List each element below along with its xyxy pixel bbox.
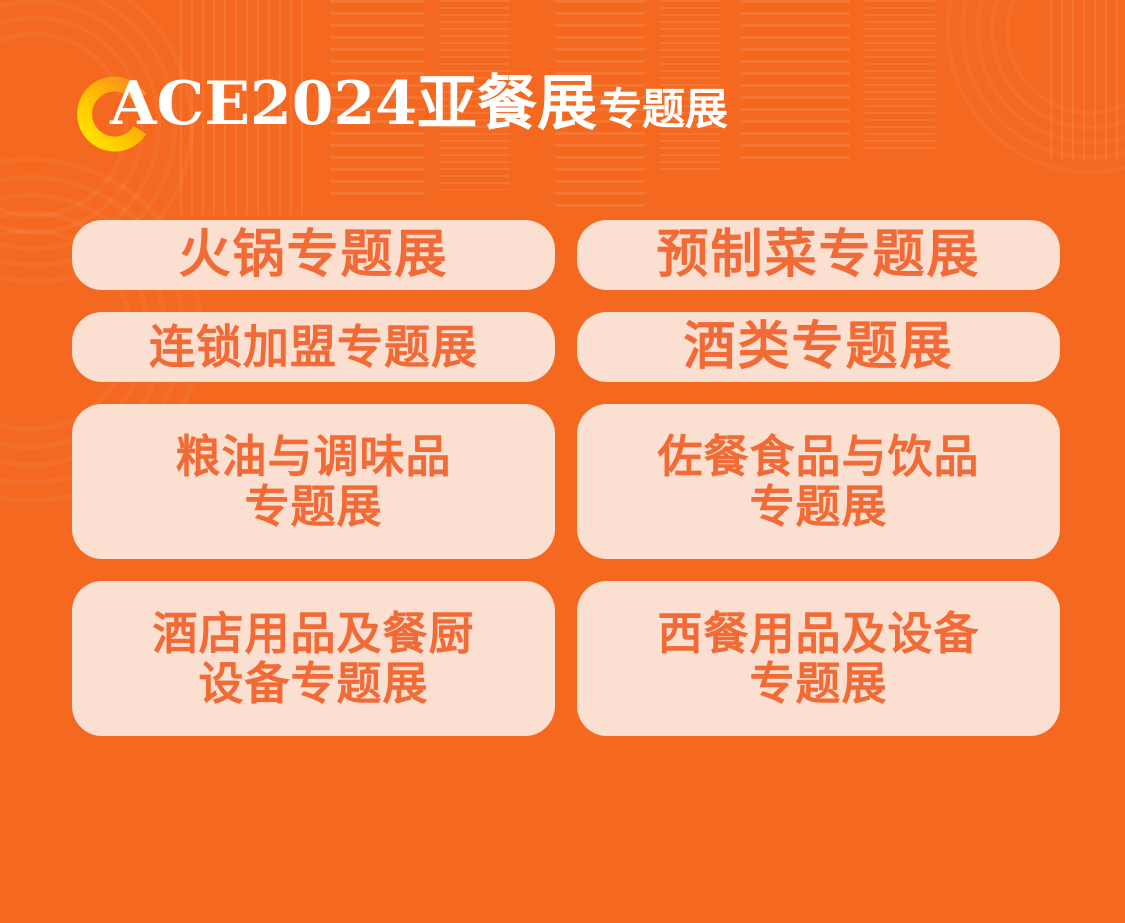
topic-card-hotel-kitchen-equipment[interactable]: 酒店用品及餐厨 设备专题展 — [72, 581, 555, 736]
topic-card-label: 酒店用品及餐厨 设备专题展 — [152, 609, 474, 710]
poster-canvas: ACE2024亚餐展 专题展 火锅专题展 预制菜专题展 连锁加盟专题展 酒类专题… — [0, 0, 1125, 923]
topic-card-label: 酒类专题展 — [683, 318, 953, 376]
topic-card-franchise[interactable]: 连锁加盟专题展 — [72, 312, 555, 382]
texture-horizontal-lines-e — [740, 0, 850, 165]
topic-card-label: 粮油与调味品 专题展 — [175, 432, 451, 533]
topic-card-label: 连锁加盟专题展 — [149, 322, 478, 374]
topic-card-side-food-drink[interactable]: 佐餐食品与饮品 专题展 — [577, 404, 1060, 559]
texture-arc-right — [940, 0, 1125, 180]
topic-card-hotpot[interactable]: 火锅专题展 — [72, 220, 555, 290]
topic-card-prepared-food[interactable]: 预制菜专题展 — [577, 220, 1060, 290]
page-title-suffix: 专题展 — [599, 89, 728, 132]
texture-horizontal-lines-f — [865, 0, 935, 150]
topic-card-liquor[interactable]: 酒类专题展 — [577, 312, 1060, 382]
topic-card-western-equipment[interactable]: 西餐用品及设备 专题展 — [577, 581, 1060, 736]
texture-vertical-lines-b — [1050, 0, 1125, 160]
poster-header: ACE2024亚餐展 专题展 — [78, 74, 728, 154]
topic-card-label: 佐餐食品与饮品 专题展 — [657, 432, 979, 533]
topic-card-grid: 火锅专题展 预制菜专题展 连锁加盟专题展 酒类专题展 粮油与调味品 专题展 佐餐… — [72, 220, 1060, 736]
topic-card-label: 预制菜专题展 — [656, 226, 980, 284]
topic-card-label: 火锅专题展 — [178, 226, 448, 284]
topic-card-label: 西餐用品及设备 专题展 — [657, 609, 979, 710]
topic-card-grain-oil-seasoning[interactable]: 粮油与调味品 专题展 — [72, 404, 555, 559]
page-title: ACE2024亚餐展 — [110, 74, 597, 134]
